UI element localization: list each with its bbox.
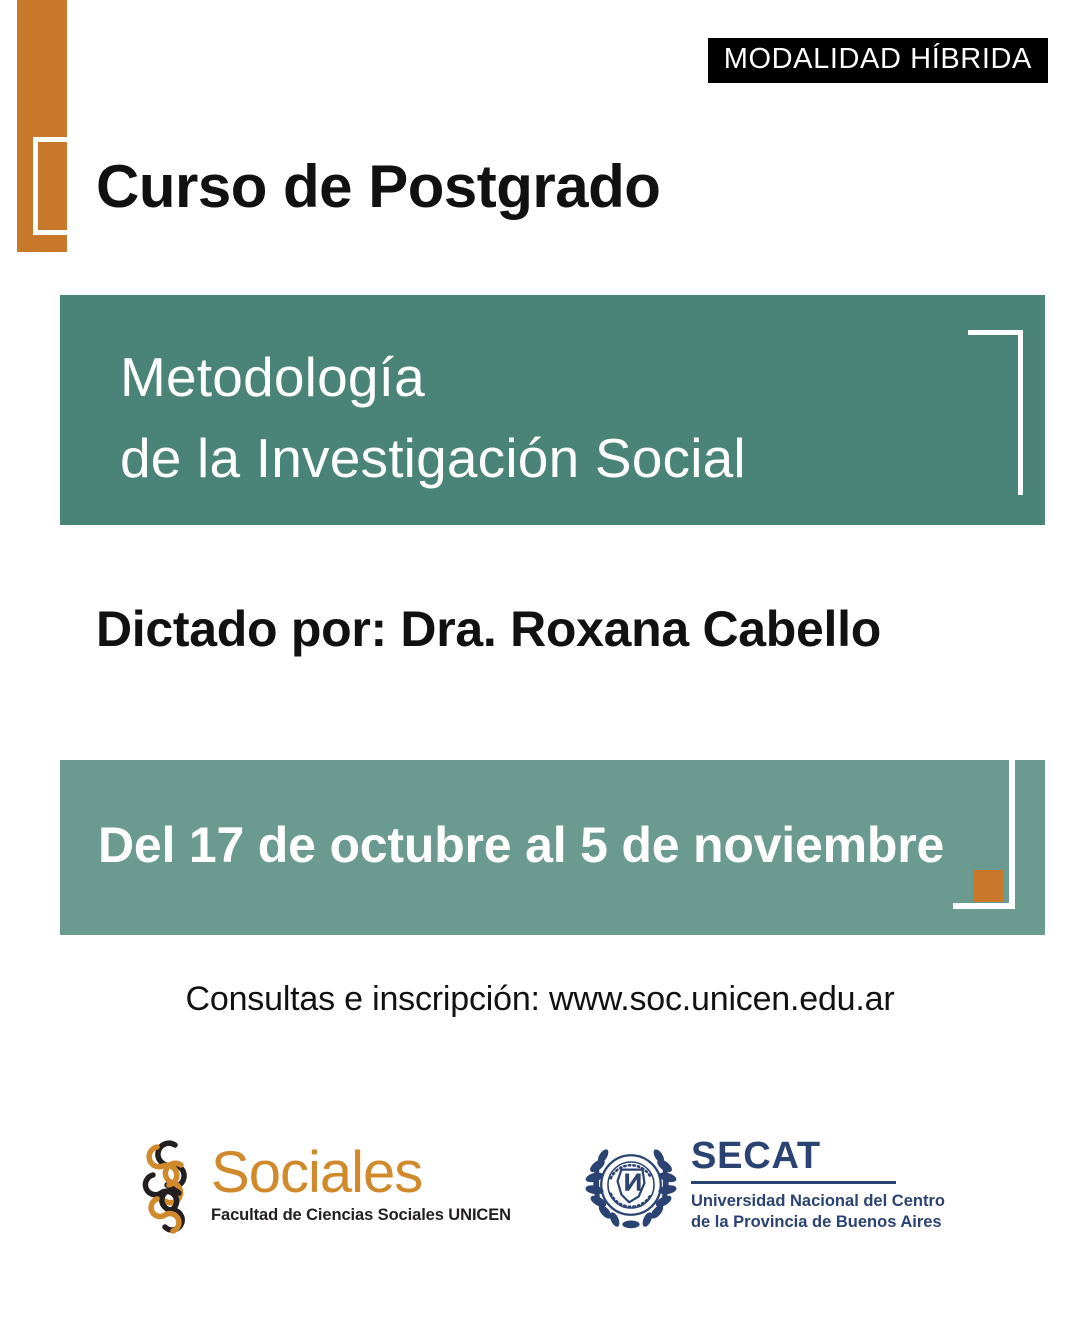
- poster-canvas: MODALIDAD HÍBRIDA Curso de Postgrado Met…: [0, 0, 1080, 1320]
- sociales-swirl-icon: [135, 1135, 199, 1235]
- course-title-block: Metodología de la Investigación Social: [60, 295, 1045, 525]
- secat-subtitle: Universidad Nacional del Centro de la Pr…: [691, 1191, 945, 1232]
- course-dates: Del 17 de octubre al 5 de noviembre: [98, 816, 944, 874]
- secat-divider: [691, 1181, 896, 1184]
- logo-secat: SECAT Universidad Nacional del Centro de…: [583, 1137, 945, 1233]
- sociales-wordmark: Sociales Facultad de Ciencias Sociales U…: [211, 1145, 511, 1224]
- contact-line: Consultas e inscripción: www.soc.unicen.…: [0, 980, 1080, 1019]
- secat-word: SECAT: [691, 1137, 821, 1175]
- logo-row: Sociales Facultad de Ciencias Sociales U…: [0, 1125, 1080, 1245]
- sociales-subtitle: Facultad de Ciencias Sociales UNICEN: [211, 1206, 511, 1225]
- logo-sociales: Sociales Facultad de Ciencias Sociales U…: [135, 1135, 511, 1235]
- course-title: Metodología de la Investigación Social: [120, 337, 746, 500]
- course-dates-block: Del 17 de octubre al 5 de noviembre: [60, 760, 1045, 935]
- modality-badge: MODALIDAD HÍBRIDA: [708, 38, 1048, 83]
- sociales-word: Sociales: [211, 1145, 422, 1200]
- dates-orange-square-decoration: [973, 870, 1003, 902]
- secat-wordmark: SECAT Universidad Nacional del Centro de…: [691, 1137, 945, 1232]
- course-kicker: Curso de Postgrado: [96, 155, 660, 218]
- title-bracket-decoration: [968, 330, 1023, 495]
- orange-bracket-decoration: [33, 137, 67, 235]
- unicen-crest-icon: [583, 1137, 679, 1233]
- lecturer-line: Dictado por: Dra. Roxana Cabello: [96, 600, 881, 658]
